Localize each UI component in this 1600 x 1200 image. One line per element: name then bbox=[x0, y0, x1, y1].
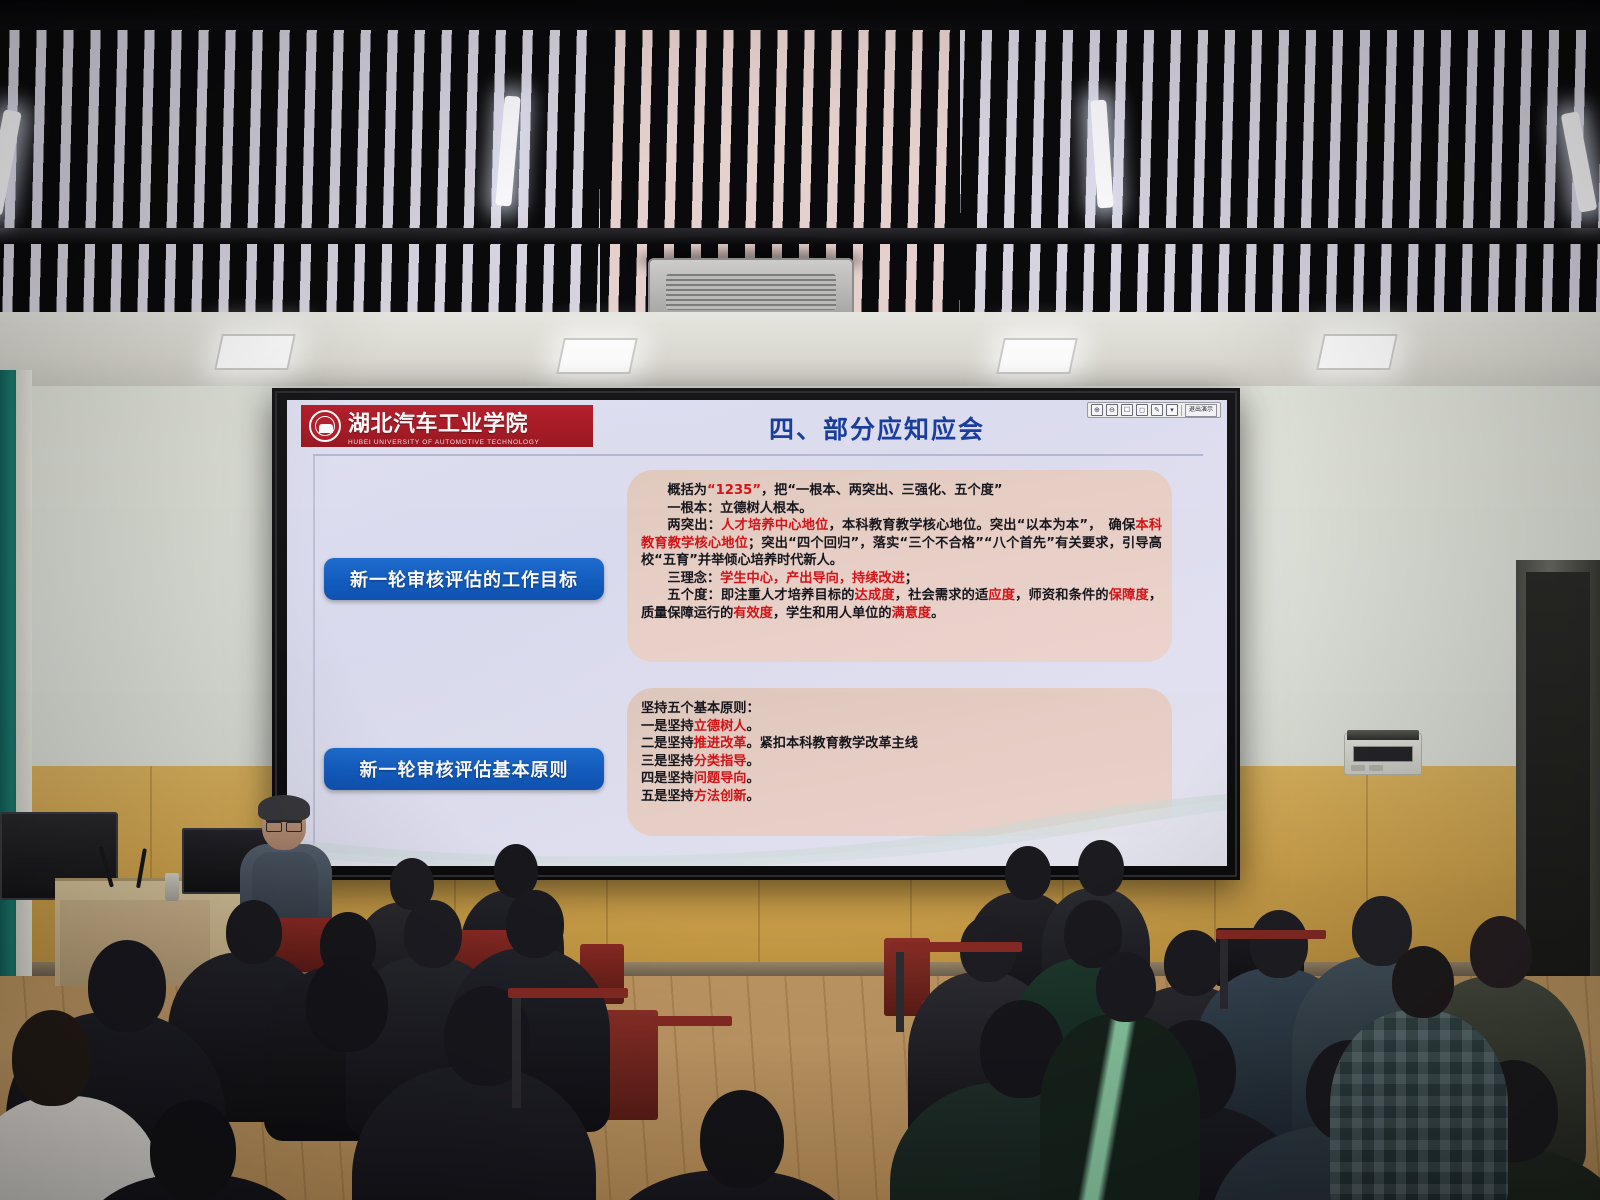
section-label-basic-principles[interactable]: 新一轮审核评估基本原则 bbox=[324, 748, 604, 790]
slide-title-rule bbox=[313, 454, 1203, 456]
soffit-panel-light-3 bbox=[996, 338, 1078, 374]
slide-text-line: 两突出：人才培养中心地位，本科教育教学核心地位。突出“以本为本”， 确保本科教育… bbox=[641, 517, 1162, 570]
slide-text-line: 一根本：立德树人根本。 bbox=[641, 500, 1162, 518]
speaker-glasses-icon bbox=[266, 820, 302, 828]
ceiling bbox=[0, 0, 1600, 318]
slide-text-line: 概括为“1235”，把“一根本、两突出、三强化、五个度” bbox=[641, 482, 1162, 500]
slide-text-line: 三是坚持分类指导。 bbox=[641, 753, 1162, 771]
left-curtain bbox=[0, 370, 30, 1070]
soffit-panel-light-1 bbox=[214, 334, 296, 370]
ac-controller-button-right[interactable] bbox=[1369, 765, 1383, 771]
speaker-hair bbox=[258, 795, 310, 821]
slide-text-line: 五个度：即注重人才培养目标的达成度，社会需求的适应度，师资和条件的保障度，质量保… bbox=[641, 587, 1162, 622]
university-logo-band: 湖北汽车工业学院 HUBEI UNIVERSITY OF AUTOMOTIVE … bbox=[301, 405, 593, 447]
pen-icon[interactable]: ✎ bbox=[1151, 404, 1163, 416]
exit-presentation-button[interactable]: 退出演示 bbox=[1185, 404, 1217, 417]
zoom-out-icon[interactable]: ⊖ bbox=[1106, 404, 1118, 416]
ceiling-ac-vent-icon bbox=[648, 258, 854, 318]
slide-text-line: 三理念：学生中心，产出导向，持续改进； bbox=[641, 570, 1162, 588]
section-label-work-goals[interactable]: 新一轮审核评估的工作目标 bbox=[324, 558, 604, 600]
toolbar-divider bbox=[1181, 405, 1182, 416]
ceiling-front-band bbox=[0, 0, 1600, 30]
chevron-down-icon[interactable]: ▾ bbox=[1166, 404, 1178, 416]
water-bottle bbox=[165, 873, 179, 901]
soffit-panel-light-4 bbox=[1316, 334, 1398, 370]
content-box-basic-principles-text: 坚持五个基本原则：一是坚持立德树人。二是坚持推进改革。紧扣本科教育教学改革主线三… bbox=[641, 700, 1162, 805]
lecture-hall-photo: ⊕ ⊖ ☐ ◻ ✎ ▾ 退出演示 湖北汽车工业学院 HUBEI UNIVERSI… bbox=[0, 0, 1600, 1200]
university-name-en: HUBEI UNIVERSITY OF AUTOMOTIVE TECHNOLOG… bbox=[348, 439, 540, 446]
ceiling-beam bbox=[0, 228, 1600, 244]
presenter-toolbar[interactable]: ⊕ ⊖ ☐ ◻ ✎ ▾ 退出演示 bbox=[1087, 402, 1221, 418]
right-door[interactable] bbox=[1516, 560, 1600, 980]
slide-text-line: 二是坚持推进改革。紧扣本科教育教学改革主线 bbox=[641, 735, 1162, 753]
powerpoint-slide[interactable]: ⊕ ⊖ ☐ ◻ ✎ ▾ 退出演示 湖北汽车工业学院 HUBEI UNIVERSI… bbox=[287, 400, 1227, 866]
slide-text-line: 四是坚持问题导向。 bbox=[641, 770, 1162, 788]
university-logo-text: 湖北汽车工业学院 HUBEI UNIVERSITY OF AUTOMOTIVE … bbox=[348, 406, 540, 446]
soffit-panel-light-2 bbox=[556, 338, 638, 374]
slide-text-line: 坚持五个基本原则： bbox=[641, 700, 1162, 718]
pointer-icon[interactable]: ☐ bbox=[1121, 404, 1133, 416]
slide-title: 四、部分应知应会 bbox=[617, 410, 1137, 446]
slide-text-line: 一是坚持立德树人。 bbox=[641, 718, 1162, 736]
ac-controller-button-left[interactable] bbox=[1351, 765, 1365, 771]
university-name-cn: 湖北汽车工业学院 bbox=[348, 406, 540, 438]
page-icon[interactable]: ◻ bbox=[1136, 404, 1148, 416]
content-box-work-goals: 概括为“1235”，把“一根本、两突出、三强化、五个度”一根本：立德树人根本。两… bbox=[627, 470, 1172, 662]
wall-ac-controller[interactable] bbox=[1344, 733, 1422, 775]
content-box-work-goals-text: 概括为“1235”，把“一根本、两突出、三强化、五个度”一根本：立德树人根本。两… bbox=[641, 482, 1162, 622]
zoom-in-icon[interactable]: ⊕ bbox=[1091, 404, 1103, 416]
university-seal-icon bbox=[309, 410, 341, 442]
ac-controller-display bbox=[1353, 746, 1413, 762]
ac-controller-hood bbox=[1347, 730, 1419, 740]
